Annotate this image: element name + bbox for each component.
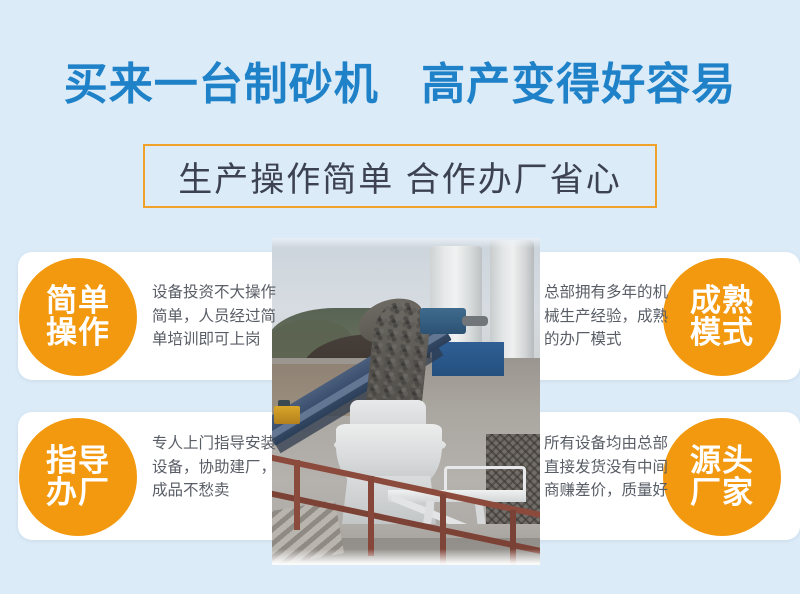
badge-line-2: 操作 [46, 317, 110, 349]
photo-top-fade [272, 238, 540, 248]
feature-badge-bottom-right: 源头 厂家 [663, 418, 781, 536]
badge-line-2: 模式 [690, 317, 754, 349]
feature-badge-bottom-left: 指导 办厂 [19, 418, 137, 536]
photo-excavator [274, 406, 300, 424]
badge-line-2: 办厂 [46, 477, 110, 509]
badge-line-1: 简单 [46, 285, 110, 317]
photo-blue-equipment-upper [432, 342, 504, 376]
headline-part-2: 高产变得好容易 [421, 60, 736, 109]
plant-photo [272, 238, 540, 565]
photo-bottom-fade [272, 549, 540, 565]
feature-description-top-right: 总部拥有多年的机械生产经验，成熟的办厂模式 [544, 281, 668, 352]
subtitle-text: 生产操作简单 合作办厂省心 [178, 152, 621, 201]
badge-line-1: 源头 [690, 445, 754, 477]
feature-description-bottom-right: 所有设备均由总部直接发货没有中间商赚差价，质量好 [544, 432, 668, 503]
feature-description-bottom-left: 专人上门指导安装设备，协助建厂，成品不愁卖 [152, 432, 276, 503]
page-title: 买来一台制砂机 高产变得好容易 [0, 48, 800, 112]
badge-line-1: 成熟 [690, 285, 754, 317]
headline-part-1: 买来一台制砂机 [64, 60, 379, 109]
feature-badge-top-right: 成熟 模式 [663, 258, 781, 376]
subtitle-frame: 生产操作简单 合作办厂省心 [143, 144, 657, 208]
feature-badge-top-left: 简单 操作 [19, 258, 137, 376]
badge-line-2: 厂家 [690, 477, 754, 509]
badge-line-1: 指导 [46, 445, 110, 477]
photo-drive-motor [420, 308, 466, 334]
poster-canvas: 买来一台制砂机 高产变得好容易 生产操作简单 合作办厂省心 [0, 0, 800, 594]
feature-description-top-left: 设备投资不大操作简单，人员经过简单培训即可上岗 [152, 281, 276, 352]
photo-drive-shaft [462, 316, 488, 326]
photo-watermark [272, 488, 540, 546]
